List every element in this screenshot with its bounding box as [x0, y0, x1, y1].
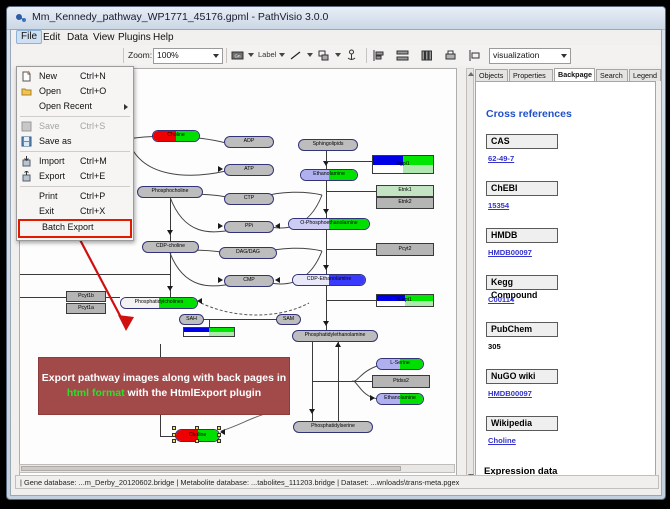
file-menu-label: New: [39, 71, 57, 81]
file-menu-item-new[interactable]: New Ctrl+N: [17, 69, 133, 84]
node-label: Etnk1: [398, 188, 411, 193]
align-icon[interactable]: [371, 48, 386, 63]
metabolite-node-atp[interactable]: ATP: [224, 164, 274, 176]
gene-node-pcyt1b[interactable]: Pcyt1b: [66, 291, 106, 302]
node-label: Ethanolamine: [384, 396, 416, 401]
menu-bar: File Edit Data View Plugins Help: [11, 30, 661, 46]
file-menu-item-export[interactable]: Export Ctrl+E: [17, 169, 133, 184]
screenshot-root: Mm_Kennedy_pathway_WP1771_45176.gpml - P…: [0, 0, 670, 509]
save-icon: [21, 121, 32, 132]
file-menu-label: Open: [39, 86, 61, 96]
file-menu-label: Save: [39, 121, 60, 131]
status-text: | Gene database: ...m_Derby_20120602.bri…: [20, 478, 459, 487]
side-panel: Objects Properties Backpage Search Legen…: [466, 68, 656, 482]
node-label: Choline: [189, 433, 207, 438]
file-menu-label: Print: [39, 191, 58, 201]
metabolite-node-phosphatidylcholines[interactable]: Phosphatidylcholines: [120, 297, 198, 309]
callout-text-before: Export pathway images along with back pa…: [42, 372, 286, 384]
file-menu-label: Export: [39, 171, 65, 181]
file-menu-item-save: Save Ctrl+S: [17, 119, 133, 134]
metabolite-node-ethanolamine-right[interactable]: Ethanolamine: [376, 393, 424, 405]
window-body: File Edit Data View Plugins Help Zoom: 1…: [10, 29, 662, 496]
xref-value-chebi[interactable]: 15354: [488, 201, 509, 210]
node-label: Ethanolamine: [313, 172, 345, 177]
xref-label-hmdb: HMDB: [486, 228, 558, 243]
file-menu-item-save-as[interactable]: Save as: [17, 134, 133, 149]
side-panel-scrollbar[interactable]: [466, 68, 474, 482]
chevron-right-icon: [124, 104, 128, 110]
xref-value-wikipedia[interactable]: Choline: [488, 436, 516, 445]
selection-handle[interactable]: [172, 426, 176, 430]
stack-icon[interactable]: [419, 48, 434, 63]
node-label: CTP: [244, 196, 254, 201]
hscroll-thumb[interactable]: [21, 466, 401, 471]
gene-fill-lightgreen: [209, 332, 234, 336]
menu-divider: [20, 116, 130, 117]
node-label: Phosphocholine: [152, 189, 189, 194]
metabolite-node-cdp-ethanolamine[interactable]: CDP-Ethanolamine: [292, 274, 366, 286]
file-menu-shortcut: Ctrl+S: [80, 121, 105, 131]
metabolite-node-ppi[interactable]: PPi: [224, 221, 274, 233]
xref-label-chebi: ChEBI: [486, 181, 558, 196]
title-bar: Mm_Kennedy_pathway_WP1771_45176.gpml - P…: [7, 7, 665, 30]
svg-text:Gn: Gn: [234, 54, 241, 59]
distribute-icon[interactable]: [395, 48, 410, 63]
metabolite-node-sphingolipids[interactable]: Sphingolipids: [298, 139, 358, 151]
application-window: Mm_Kennedy_pathway_WP1771_45176.gpml - P…: [6, 6, 666, 500]
gene-node-pcyt2[interactable]: Pcyt2: [376, 243, 434, 256]
node-label: SAM: [283, 317, 294, 322]
side-panel-tabs: Objects Properties Backpage Search Legen…: [475, 68, 656, 81]
shapes-dropdown-icon[interactable]: [335, 53, 341, 57]
file-menu-label: Batch Export: [42, 222, 94, 232]
xref-label-nugo-wiki: NuGO wiki: [486, 369, 558, 384]
node-label: L-Serine: [390, 361, 410, 366]
selection-handle[interactable]: [172, 433, 176, 437]
chevron-down-icon: [213, 54, 219, 58]
metabolite-node-phosphatidylserine[interactable]: Phosphatidylserine: [293, 421, 373, 433]
toolbar: Zoom: 100% Gn Label: [11, 45, 661, 66]
selection-handle[interactable]: [217, 426, 221, 430]
node-label: ATP: [244, 167, 254, 172]
file-menu-shortcut: Ctrl+N: [80, 71, 106, 81]
import-icon: [21, 156, 32, 167]
xref-value-hmdb[interactable]: HMDB00097: [488, 248, 532, 257]
cross-references-heading: Cross references: [486, 108, 572, 120]
xref-value-cas[interactable]: 62-49-7: [488, 154, 514, 163]
label-tool[interactable]: Label: [258, 50, 276, 59]
xref-value-pubchem: 305: [488, 342, 501, 351]
selection-handle[interactable]: [195, 426, 199, 430]
annotation-callout: Export pathway images along with back pa…: [38, 357, 290, 415]
node-label: Pcyt2: [399, 247, 412, 252]
file-menu-label: Import: [39, 156, 65, 166]
tab-properties[interactable]: Properties: [509, 69, 553, 81]
folder-icon: [21, 86, 32, 97]
xref-value-nugo-wiki[interactable]: HMDB00097: [488, 389, 532, 398]
node-label: CDP-choline: [156, 244, 185, 249]
node-label: O-Phosphoethanolamine: [300, 221, 357, 226]
layout-icon[interactable]: [467, 48, 482, 63]
node-label: ADP: [244, 139, 255, 144]
tab-search[interactable]: Search: [596, 69, 628, 81]
new-file-icon: [21, 71, 32, 82]
node-label: Etnk2: [398, 200, 411, 205]
metabolite-node-o-phosphoethanolamine[interactable]: O-Phosphoethanolamine: [288, 218, 370, 230]
save-as-icon: [21, 136, 32, 147]
tab-objects[interactable]: Objects: [475, 69, 508, 81]
pathvisio-icon: [15, 12, 27, 24]
callout-highlight: html format: [67, 387, 125, 399]
file-menu-shortcut: Ctrl+P: [80, 191, 105, 201]
file-menu-item-print[interactable]: Print Ctrl+P: [17, 189, 133, 204]
menu-divider: [20, 151, 130, 152]
node-label: CMP: [243, 278, 255, 283]
xref-label-cas: CAS: [486, 134, 558, 149]
anchor-icon[interactable]: [344, 48, 359, 63]
file-menu-label: Exit: [39, 206, 54, 216]
node-label: SAH: [186, 317, 197, 322]
metabolite-node-ethanolamine-top[interactable]: Ethanolamine: [300, 169, 358, 181]
callout-text-after: with the HtmlExport plugin: [125, 387, 262, 399]
file-menu-shortcut: Ctrl+X: [80, 206, 105, 216]
node-label: Sgpl1: [396, 162, 409, 167]
tab-backpage[interactable]: Backpage: [554, 68, 595, 81]
backpage-content: Cross references CAS62-49-7ChEBI15354HMD…: [475, 81, 656, 481]
file-menu-shortcut: Ctrl+E: [80, 171, 105, 181]
line-dropdown-icon[interactable]: [307, 53, 313, 57]
metabolite-node-ctp[interactable]: CTP: [224, 193, 274, 205]
metabolite-node-phosphatidylethanolamine[interactable]: Phosphatidylethanolamine: [292, 330, 378, 342]
file-menu-item-batch-export[interactable]: Batch Export: [18, 219, 132, 238]
node-label: CDP-Ethanolamine: [307, 277, 351, 282]
metabolite-node-dag-dag[interactable]: DAG/DAG: [219, 247, 277, 259]
gene-node-ptdss2[interactable]: Ptdss2: [372, 375, 430, 388]
datanode-dropdown-icon[interactable]: [248, 53, 254, 57]
node-label: Cept1: [398, 298, 412, 303]
file-menu-item-open[interactable]: Open Ctrl+O: [17, 84, 133, 99]
gene-node-etnk1[interactable]: Etnk1: [376, 185, 434, 197]
status-bar: | Gene database: ...m_Derby_20120602.bri…: [15, 475, 659, 489]
node-label: Pcyt1b: [78, 294, 94, 299]
gene-node-sgpl1[interactable]: Sgpl1: [372, 155, 434, 174]
canvas-hscrollbar[interactable]: [19, 464, 455, 473]
node-label: DAG/DAG: [236, 250, 260, 255]
metabolite-node-choline-top[interactable]: Choline: [152, 130, 200, 142]
metabolite-node-phosphocholine[interactable]: Phosphocholine: [137, 186, 203, 198]
node-label: Sphingolipids: [313, 142, 344, 147]
export-icon: [21, 171, 32, 182]
node-label: Phosphatidylethanolamine: [305, 333, 366, 338]
line-icon[interactable]: [288, 48, 303, 63]
node-label: Choline: [167, 133, 185, 138]
gene-node-chka-chkb[interactable]: [183, 327, 235, 337]
selection-handle[interactable]: [172, 439, 176, 443]
metabolite-node-cmp[interactable]: CMP: [224, 275, 274, 287]
selection-handle[interactable]: [217, 433, 221, 437]
metabolite-node-cdp-choline[interactable]: CDP-choline: [142, 241, 199, 253]
metabolite-node-adp[interactable]: ADP: [224, 136, 274, 148]
menu-help[interactable]: Help: [149, 31, 178, 44]
window-title: Mm_Kennedy_pathway_WP1771_45176.gpml - P…: [32, 11, 328, 23]
chevron-down-icon: [561, 54, 567, 58]
menu-edit[interactable]: Edit: [39, 31, 64, 44]
label-dropdown-icon[interactable]: [279, 53, 285, 57]
gene-node-etnk2[interactable]: Etnk2: [376, 197, 434, 209]
file-menu-label: Open Recent: [39, 101, 92, 111]
xref-label-wikipedia: Wikipedia: [486, 416, 558, 431]
selection-handle[interactable]: [195, 439, 199, 443]
file-menu-item-open-recent[interactable]: Open Recent: [17, 99, 133, 114]
file-menu-item-exit[interactable]: Exit Ctrl+X: [17, 204, 133, 219]
file-menu-label: Save as: [39, 136, 72, 146]
file-menu-shortcut: Ctrl+M: [80, 156, 107, 166]
metabolite-node-sam[interactable]: SAM: [276, 314, 301, 325]
node-label: Phosphatidylcholines: [135, 300, 184, 305]
menu-divider: [20, 186, 130, 187]
xref-label-pubchem: PubChem: [486, 322, 558, 337]
tab-legend[interactable]: Legend: [629, 69, 661, 81]
file-menu-shortcut: Ctrl+O: [80, 86, 106, 96]
node-label: Phosphatidylserine: [311, 424, 355, 429]
file-menu-popup[interactable]: New Ctrl+N Open Ctrl+O Open Recent: [16, 66, 134, 241]
visualization-value: visualization: [493, 50, 539, 60]
metabolite-node-sah[interactable]: SAH: [179, 314, 204, 325]
zoom-value: 100%: [157, 50, 179, 60]
node-label: Pcyt1a: [78, 306, 94, 311]
shapes-icon[interactable]: [316, 48, 331, 63]
gene-fill-white: [184, 332, 209, 336]
node-label: Ptdss2: [393, 379, 409, 384]
datanode-icon[interactable]: Gn: [230, 48, 245, 63]
print-icon[interactable]: [443, 48, 458, 63]
file-menu-item-import[interactable]: Import Ctrl+M: [17, 154, 133, 169]
visualization-combo[interactable]: visualization: [489, 48, 571, 64]
zoom-label: Zoom:: [128, 50, 152, 60]
metabolite-node-l-serine[interactable]: L-Serine: [376, 358, 424, 370]
gene-node-pcyt1a[interactable]: Pcyt1a: [66, 303, 106, 314]
gene-node-cept1[interactable]: Cept1: [376, 294, 434, 307]
selection-handle[interactable]: [217, 439, 221, 443]
xref-label-kegg-compound: Kegg Compound: [486, 275, 558, 290]
node-label: PPi: [245, 224, 253, 229]
menu-data[interactable]: Data: [63, 31, 92, 44]
zoom-combo[interactable]: 100%: [153, 48, 223, 64]
xref-value-kegg-compound[interactable]: C00114: [488, 295, 514, 304]
